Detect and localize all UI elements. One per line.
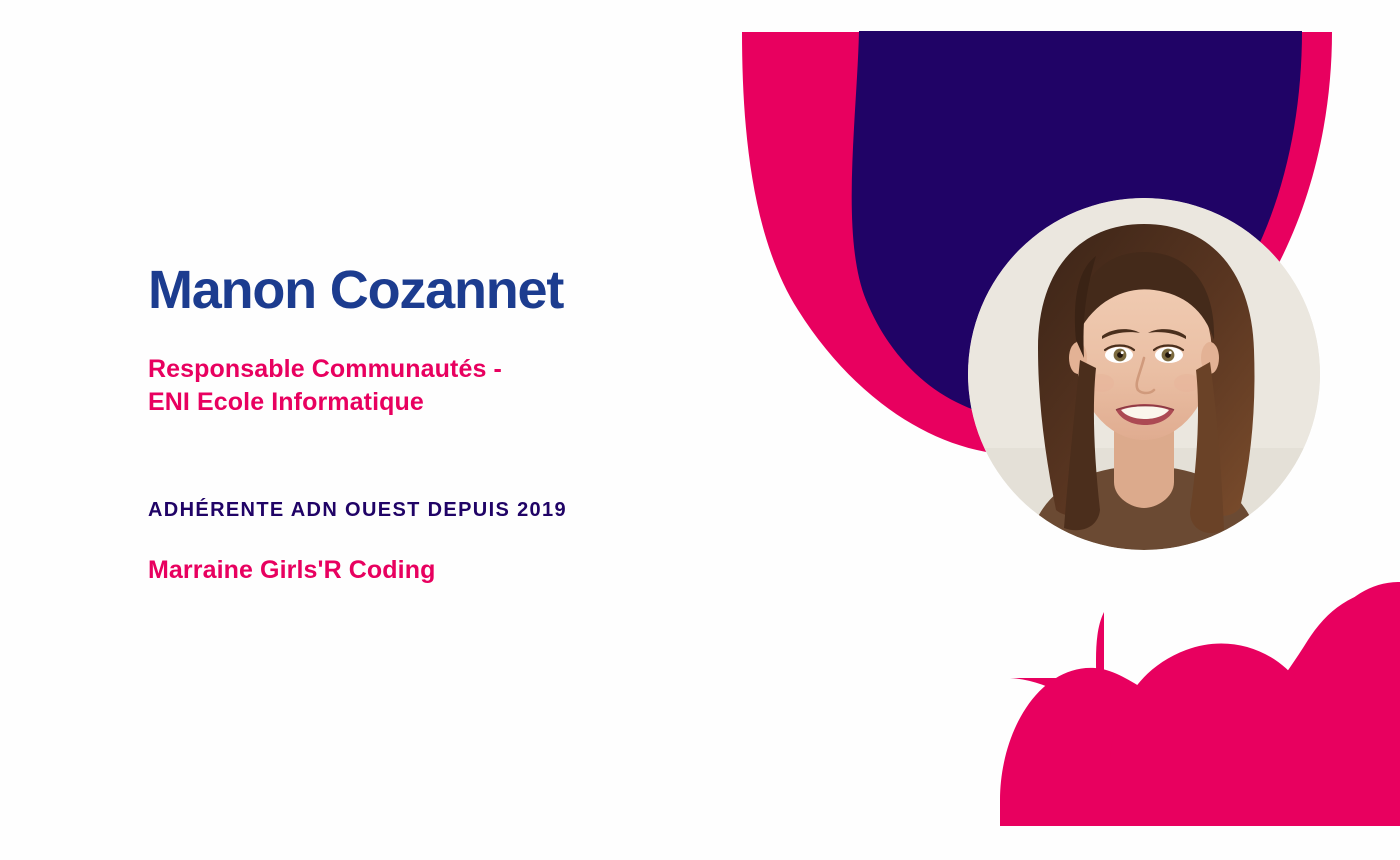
role-line-2: ENI Ecole Informatique: [148, 386, 788, 419]
membership-badge: ADHÉRENTE ADN OUEST DEPUIS 2019: [148, 499, 788, 522]
sponsor-role-label: Marraine Girls'R Coding: [148, 556, 788, 585]
bottom-pink-blob-lobe: [1110, 643, 1300, 826]
role-block: Responsable Communautés - ENI Ecole Info…: [148, 353, 788, 419]
portrait-photo: [968, 198, 1320, 550]
slide-canvas: Manon Cozannet Responsable Communautés -…: [0, 0, 1400, 860]
bottom-pink-blob-shape: [1096, 588, 1400, 824]
role-line-1: Responsable Communautés -: [148, 353, 788, 386]
bottom-pink-blob: [1000, 582, 1400, 826]
portrait-illustration: [968, 198, 1320, 550]
bottom-pink-blob-body: [1009, 585, 1400, 824]
page-title: Manon Cozannet: [148, 262, 788, 319]
speaker-info-block: Manon Cozannet Responsable Communautés -…: [148, 262, 788, 585]
